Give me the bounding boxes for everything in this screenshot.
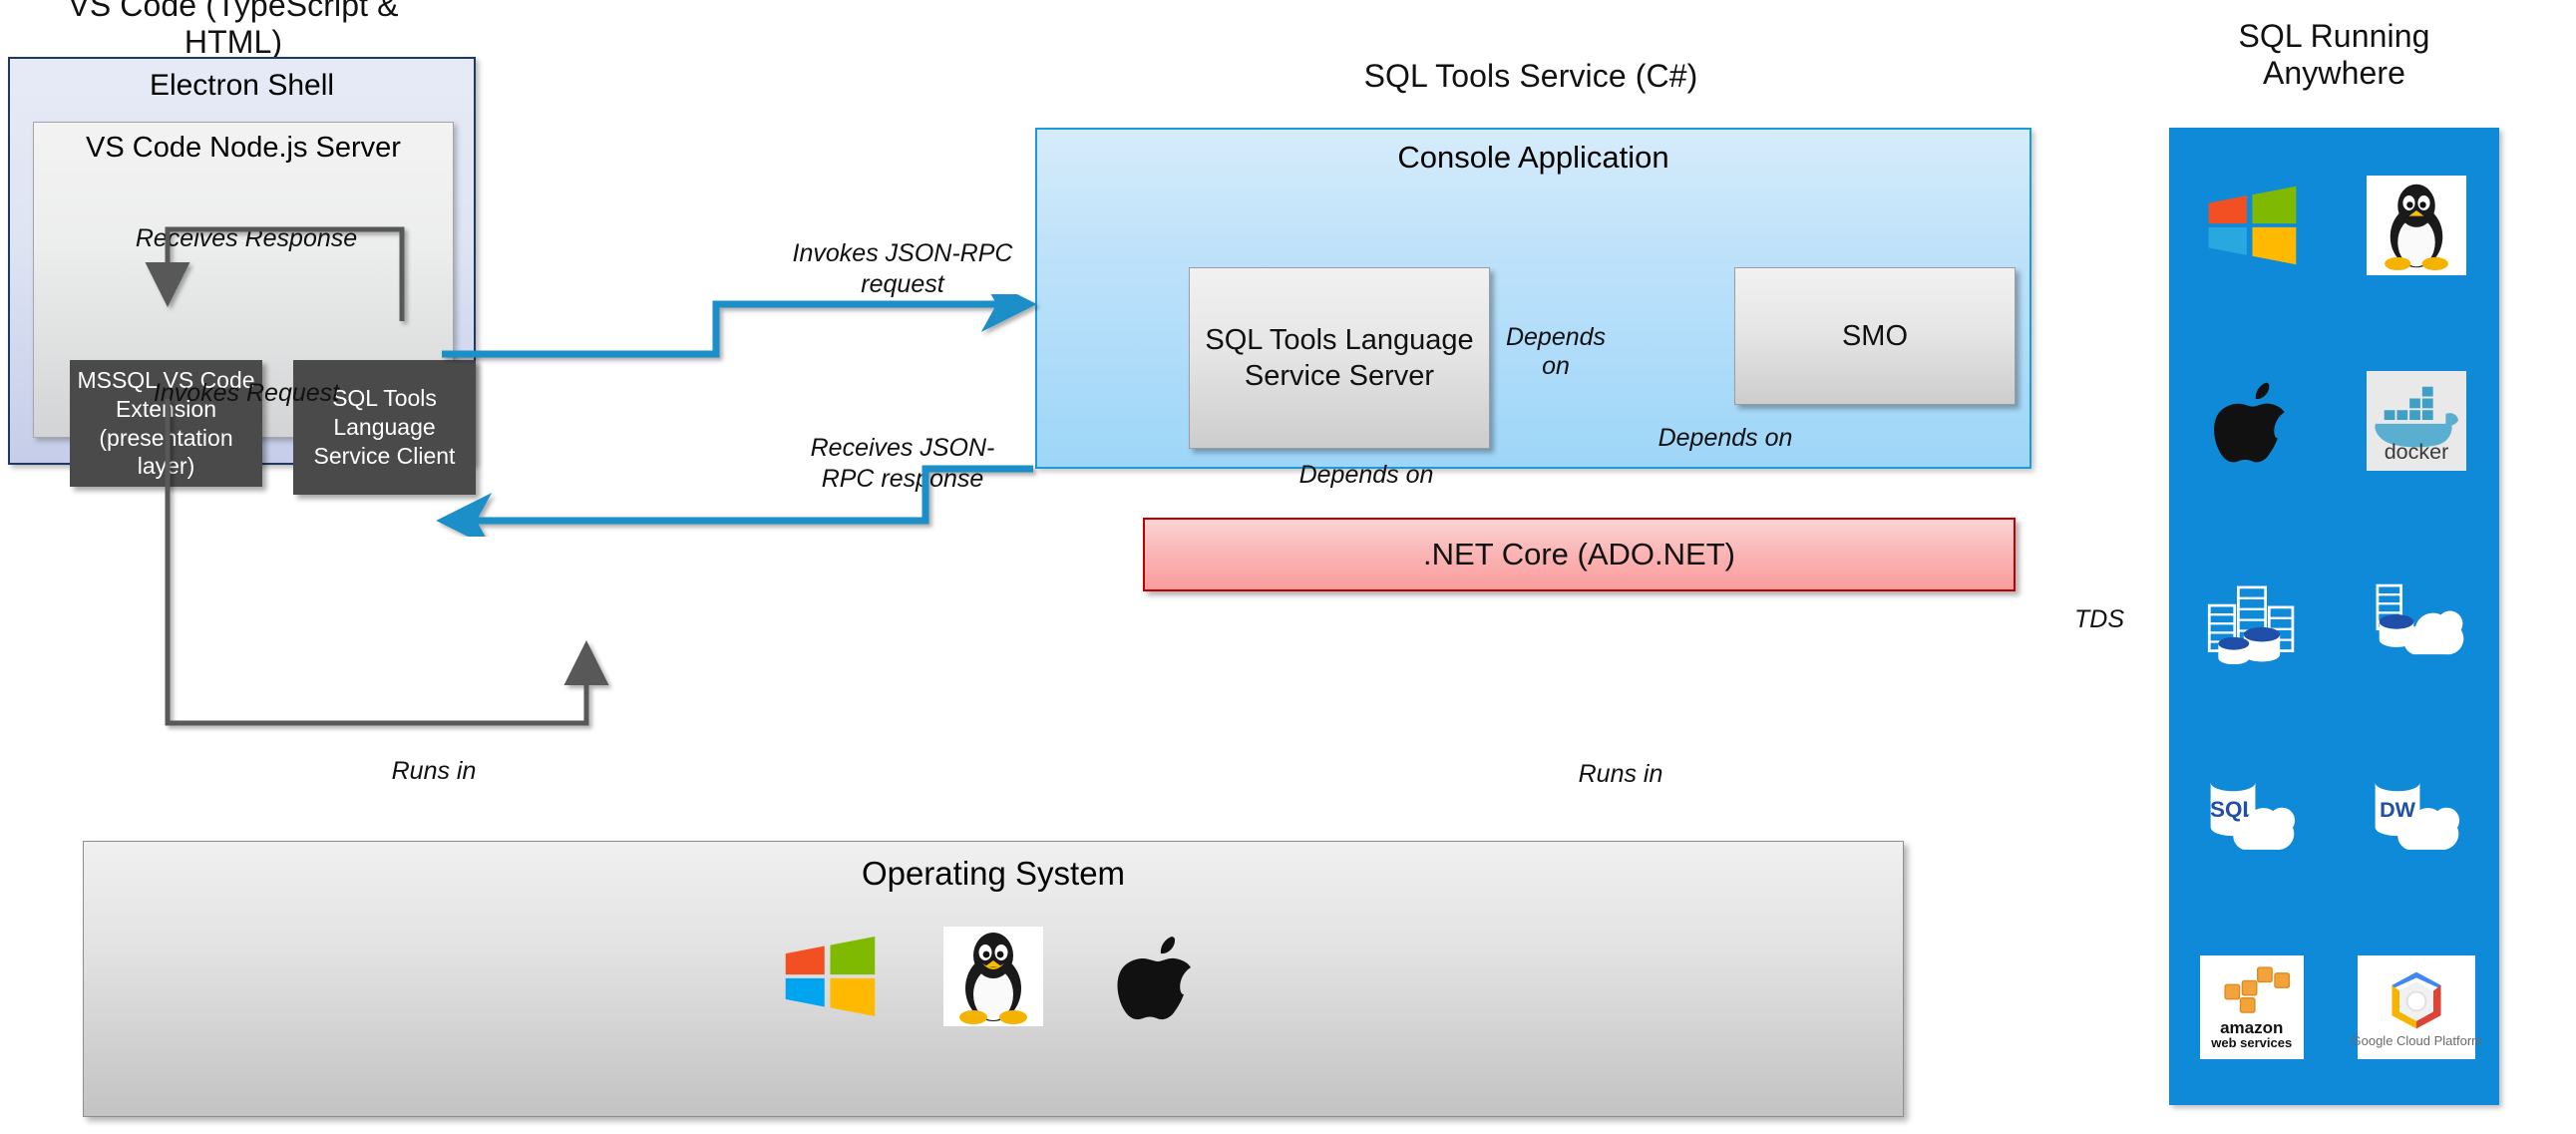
linux-tux-logo: [2367, 176, 2466, 275]
sql-running-anywhere-panel: docker: [2169, 128, 2499, 1105]
operating-system-logo-row: [84, 927, 1903, 1026]
operating-system-title: Operating System: [84, 855, 1903, 893]
aws-wordmark-line1: amazon: [2220, 1019, 2283, 1036]
vs-code-node-server-panel: VS Code Node.js Server MSSQL VS Code Ext…: [33, 122, 454, 438]
electron-shell-panel: Electron Shell VS Code Node.js Server MS…: [8, 57, 476, 465]
depends-on-label-smo: Depends on: [1496, 317, 1616, 387]
linux-tux-logo: [943, 927, 1043, 1026]
docker-wordmark: docker: [2385, 440, 2449, 464]
caption-sql-running-anywhere: SQL Running Anywhere: [2169, 0, 2499, 110]
windows-logo: [780, 927, 880, 1026]
docker-logo: docker: [2367, 371, 2466, 471]
invokes-request-label: Invokes Request: [82, 377, 411, 409]
receives-response-label: Receives Response: [82, 222, 411, 254]
receives-json-rpc-response-label: Receives JSON-RPC response: [788, 429, 1017, 499]
apple-logo: [2202, 371, 2302, 471]
amazon-web-services-logo: amazon web services: [2200, 955, 2304, 1059]
console-application-title: Console Application: [1037, 140, 2029, 176]
aws-wordmark-line2: web services: [2211, 1036, 2292, 1050]
depends-on-label-server-to-dotnet: Depends on: [1267, 459, 1466, 491]
gcp-wordmark: Google Cloud Platform: [2352, 1034, 2483, 1048]
sql-running-anywhere-logo-grid: docker: [2169, 128, 2499, 1105]
azure-sql-database-icon: SQL: [2202, 762, 2302, 862]
sql-tools-language-service-server-box[interactable]: SQL Tools Language Service Server: [1189, 267, 1490, 449]
dw-db-label: DW: [2380, 797, 2416, 822]
depends-on-label-smo-to-dotnet: Depends on: [1616, 422, 1835, 454]
connector-invokes-json-rpc-request: [442, 304, 1027, 354]
caption-sql-running-anywhere-text: SQL Running Anywhere: [2238, 18, 2429, 92]
datacenter-database-icon: [2202, 567, 2302, 666]
google-cloud-platform-logo: Google Cloud Platform: [2358, 955, 2475, 1059]
dotnet-core-ado-net-box[interactable]: .NET Core (ADO.NET): [1143, 518, 2016, 591]
runs-in-label-left: Runs in: [354, 755, 514, 787]
apple-logo: [1107, 927, 1207, 1026]
vs-code-node-server-title: VS Code Node.js Server: [34, 132, 453, 165]
runs-in-label-middle: Runs in: [1541, 758, 1700, 790]
electron-shell-title: Electron Shell: [10, 69, 474, 103]
azure-sql-data-warehouse-icon: DW: [2367, 762, 2466, 862]
smo-box[interactable]: SMO: [1734, 267, 2016, 405]
windows-logo: [2202, 176, 2302, 275]
invokes-json-rpc-request-label: Invokes JSON-RPC request: [788, 234, 1017, 304]
tds-label: TDS: [2034, 602, 2164, 636]
caption-vs-code: VS Code (TypeScript & HTML): [24, 4, 443, 44]
caption-sql-tools-service: SQL Tools Service (C#): [1182, 56, 1880, 96]
operating-system-panel: Operating System: [83, 841, 1904, 1117]
cloud-database-icon: [2367, 567, 2466, 666]
